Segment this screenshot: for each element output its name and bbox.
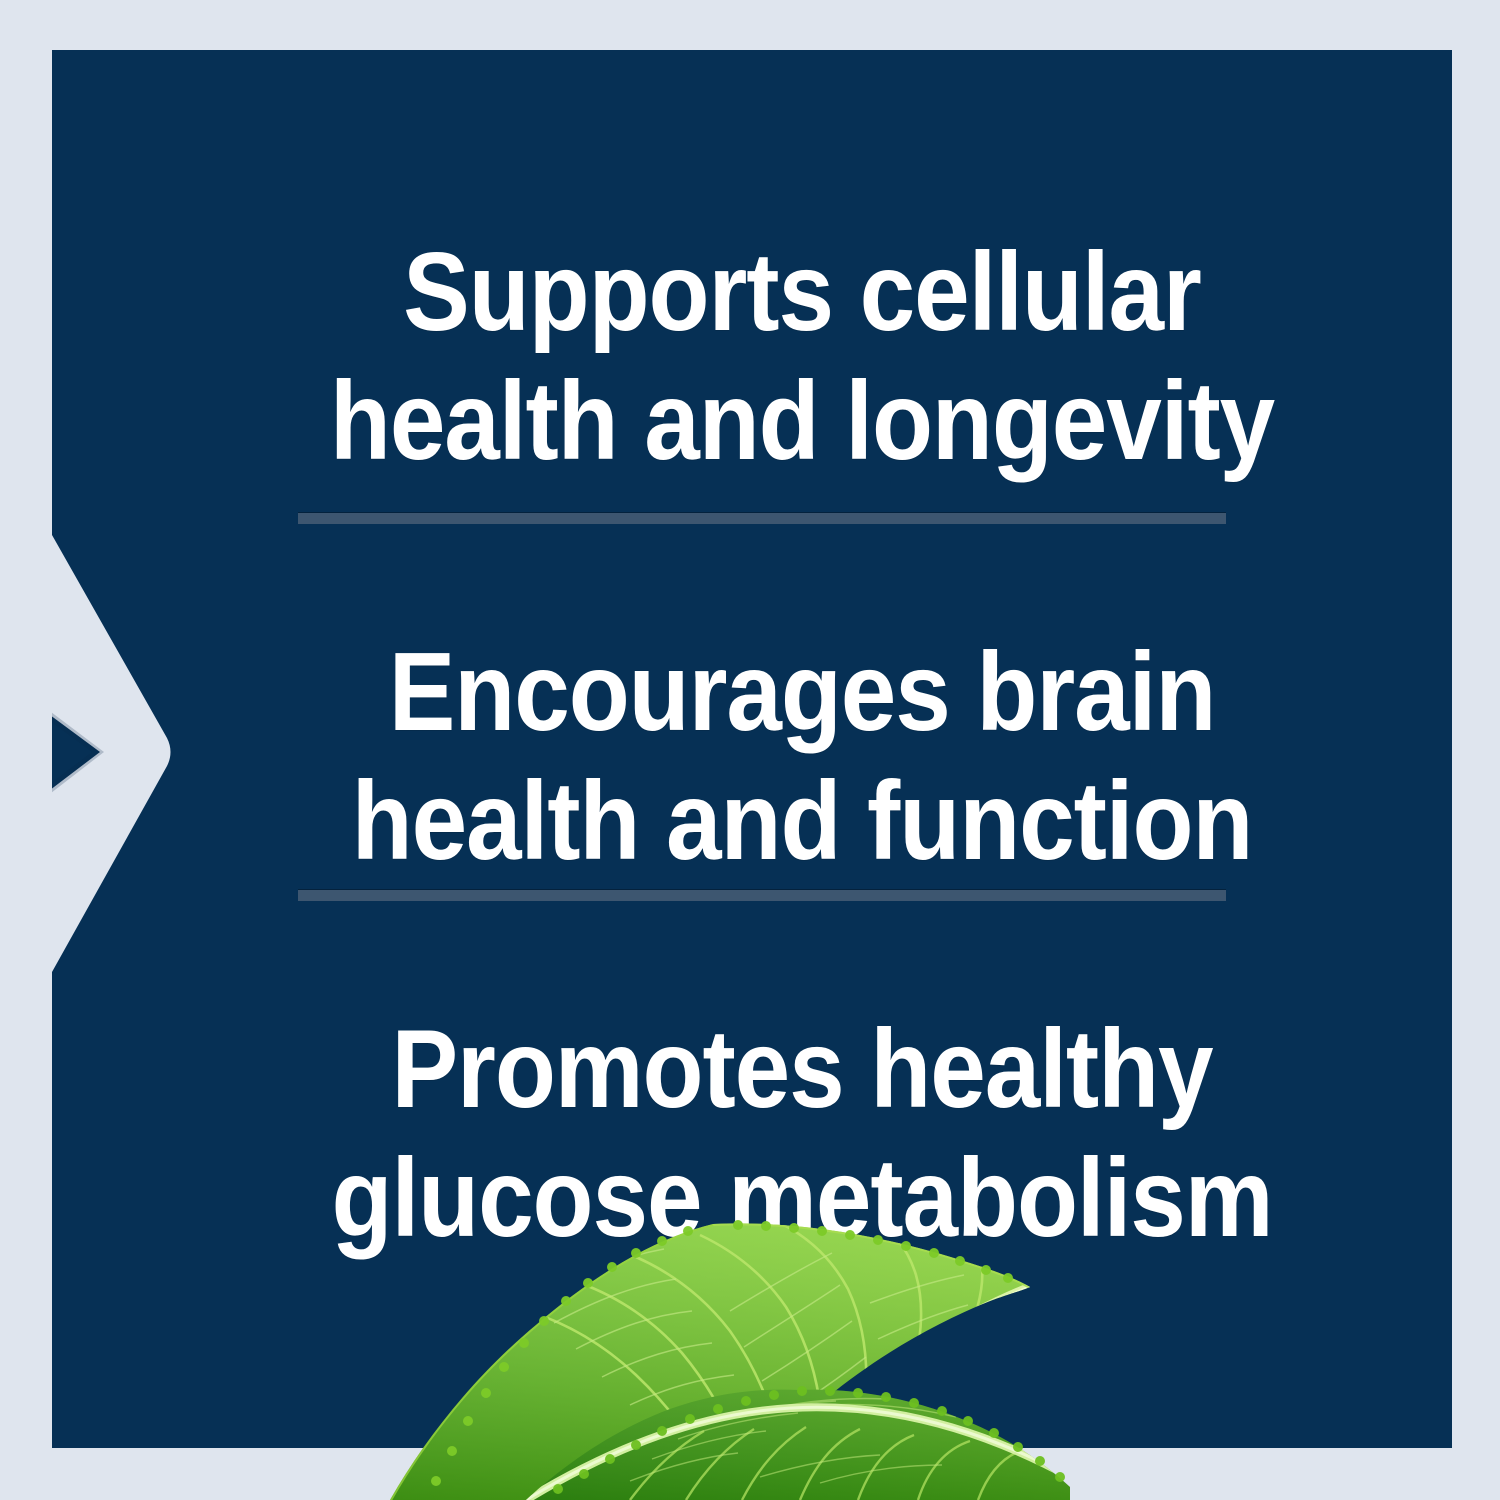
benefit-text-brain-health: Encourages brain health and function [289,628,1315,886]
benefit-text-glucose-metabolism: Promotes healthy glucose metabolism [289,1005,1315,1263]
benefit-divider-1 [298,513,1226,524]
product-benefits-graphic: Supports cellular health and longevity E… [0,0,1500,1500]
benefit-text-cellular-health: Supports cellular health and longevity [289,228,1315,486]
benefit-divider-2 [298,890,1226,901]
benefits-panel: Supports cellular health and longevity E… [52,50,1452,1448]
